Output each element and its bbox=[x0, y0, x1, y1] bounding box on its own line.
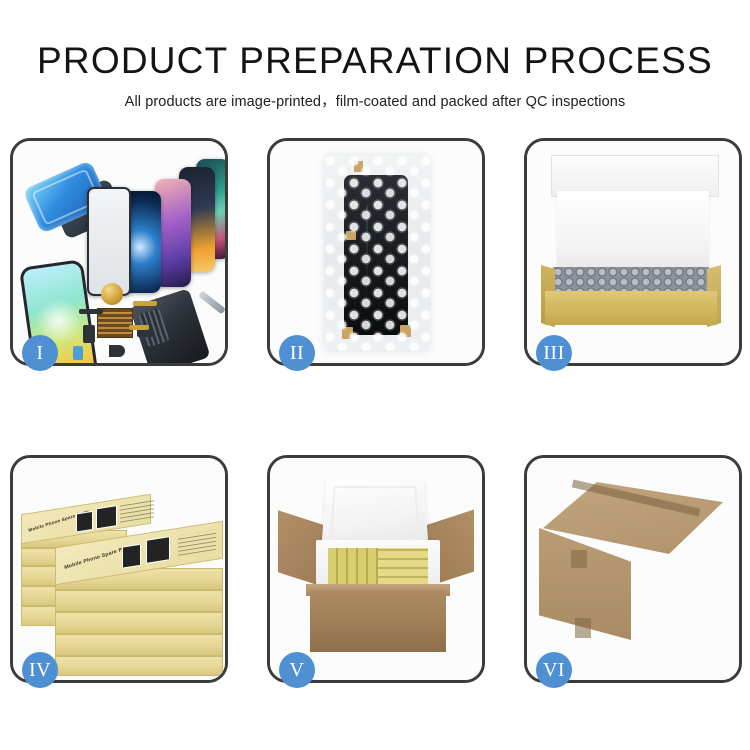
step-1-image bbox=[13, 141, 225, 363]
white-foam-sheet bbox=[557, 191, 709, 269]
box-print-phone-front bbox=[122, 544, 141, 569]
flex-cable-lower bbox=[129, 325, 149, 330]
component-connector bbox=[109, 345, 125, 357]
component-module bbox=[83, 325, 95, 343]
screen-glass-panel bbox=[87, 187, 131, 296]
step-panel-3 bbox=[524, 138, 742, 366]
step-3-image bbox=[527, 141, 739, 363]
step-badge-1: I bbox=[22, 335, 58, 371]
box-print-tablet-front bbox=[146, 536, 170, 564]
carton-body bbox=[310, 590, 446, 652]
stacked-box-front-2 bbox=[55, 590, 223, 612]
page-subtitle: All products are image-printed，film-coat… bbox=[0, 90, 750, 111]
box-print-text-block-front bbox=[178, 530, 216, 556]
step-badge-3: III bbox=[536, 335, 572, 371]
stacked-box-front-3 bbox=[55, 612, 223, 634]
flex-cable-upper bbox=[133, 301, 157, 306]
step-panel-1 bbox=[10, 138, 228, 366]
step-6-image bbox=[527, 458, 739, 680]
box-stack: Mobile Phone Spare Parts Mobile Phone Sp… bbox=[19, 476, 225, 672]
step-panel-5 bbox=[267, 455, 485, 683]
step-badge-6: VI bbox=[536, 652, 572, 688]
step-4-image: Mobile Phone Spare Parts Mobile Phone Sp… bbox=[13, 458, 225, 680]
stacked-box-front-4 bbox=[55, 634, 223, 656]
box-print-phone-rear bbox=[76, 511, 93, 533]
styrofoam-lid bbox=[321, 479, 428, 548]
step-5-image bbox=[270, 458, 482, 680]
bubble-wrap-bag bbox=[324, 155, 430, 351]
step-2-image bbox=[270, 141, 482, 363]
stacked-box-front-5 bbox=[55, 656, 223, 676]
carton-tape-lower bbox=[575, 618, 591, 638]
product-preparation-infographic: PRODUCT PREPARATION PROCESS All products… bbox=[0, 0, 750, 750]
step-badge-5: V bbox=[279, 652, 315, 688]
component-battery bbox=[73, 346, 83, 360]
step-panel-2 bbox=[267, 138, 485, 366]
step-badge-2: II bbox=[279, 335, 315, 371]
process-step-grid: Mobile Phone Spare Parts Mobile Phone Sp… bbox=[10, 138, 740, 738]
page-title: PRODUCT PREPARATION PROCESS bbox=[0, 42, 750, 81]
box-print-text-block-rear bbox=[120, 499, 154, 522]
step-panel-6 bbox=[524, 455, 742, 683]
kraft-box-front bbox=[545, 291, 717, 325]
component-earpiece bbox=[79, 309, 103, 314]
header: PRODUCT PREPARATION PROCESS All products… bbox=[0, 0, 750, 111]
carton-tape-upper bbox=[571, 550, 587, 568]
step-panel-4: Mobile Phone Spare Parts Mobile Phone Sp… bbox=[10, 455, 228, 683]
speaker-component bbox=[101, 283, 123, 305]
repair-tweezers bbox=[198, 291, 226, 315]
step-badge-4: IV bbox=[22, 652, 58, 688]
bubble-texture bbox=[324, 155, 430, 351]
box-print-tablet-rear bbox=[96, 505, 117, 529]
